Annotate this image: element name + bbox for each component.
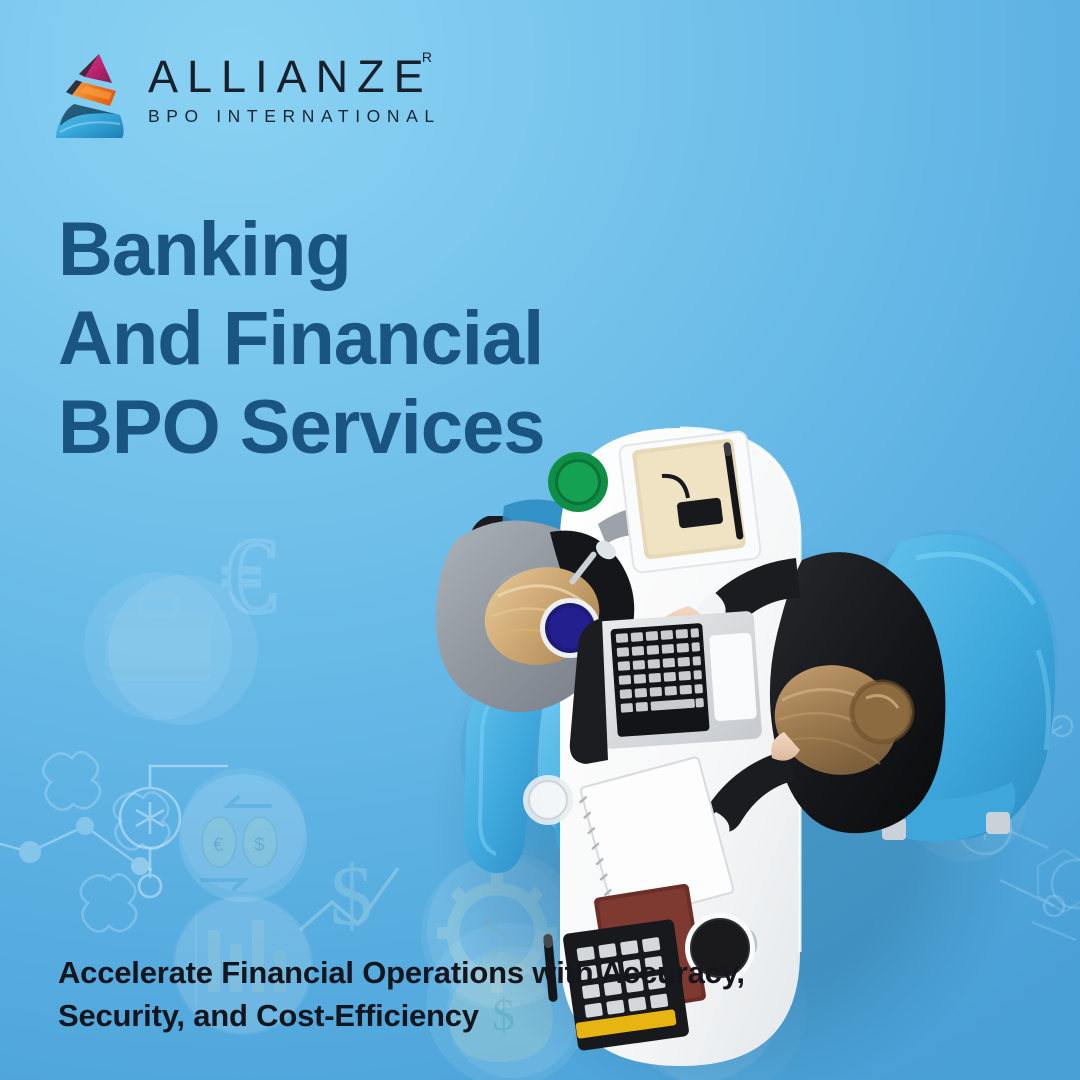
logo-name: ALLIANZER <box>148 54 418 99</box>
svg-text:€: € <box>213 835 224 856</box>
euro-symbol-icon: € <box>222 517 276 636</box>
headline-line-2: And Financial <box>58 295 698 384</box>
subtitle-line-2: Security, and Cost-Efficiency <box>58 995 758 1038</box>
svg-text:€: € <box>222 517 276 636</box>
logo-wordmark: ALLIANZER BPO INTERNATIONAL <box>148 54 418 126</box>
headline-line-1: Banking <box>58 206 698 295</box>
briefcase-badge-icon <box>84 572 232 720</box>
poster-canvas: € <box>0 0 1080 1080</box>
page-title: Banking And Financial BPO Services <box>58 206 698 473</box>
page-subtitle: Accelerate Financial Operations with Acc… <box>58 952 758 1038</box>
svg-text:$: $ <box>254 835 265 856</box>
svg-text:$: $ <box>330 847 373 943</box>
pyramid-logo-icon <box>52 52 134 140</box>
subtitle-line-1: Accelerate Financial Operations with Acc… <box>58 952 758 995</box>
currency-exchange-icon: € $ <box>179 774 307 902</box>
network-node-icon <box>0 817 152 875</box>
brand-logo[interactable]: ALLIANZER BPO INTERNATIONAL <box>52 48 412 144</box>
headline-line-3: BPO Services <box>58 384 698 473</box>
logo-tagline: BPO INTERNATIONAL <box>148 108 418 126</box>
glass-tumbler <box>523 775 573 825</box>
registered-mark: R <box>422 50 432 64</box>
dollar-line-chart-icon: $ <box>300 847 398 943</box>
